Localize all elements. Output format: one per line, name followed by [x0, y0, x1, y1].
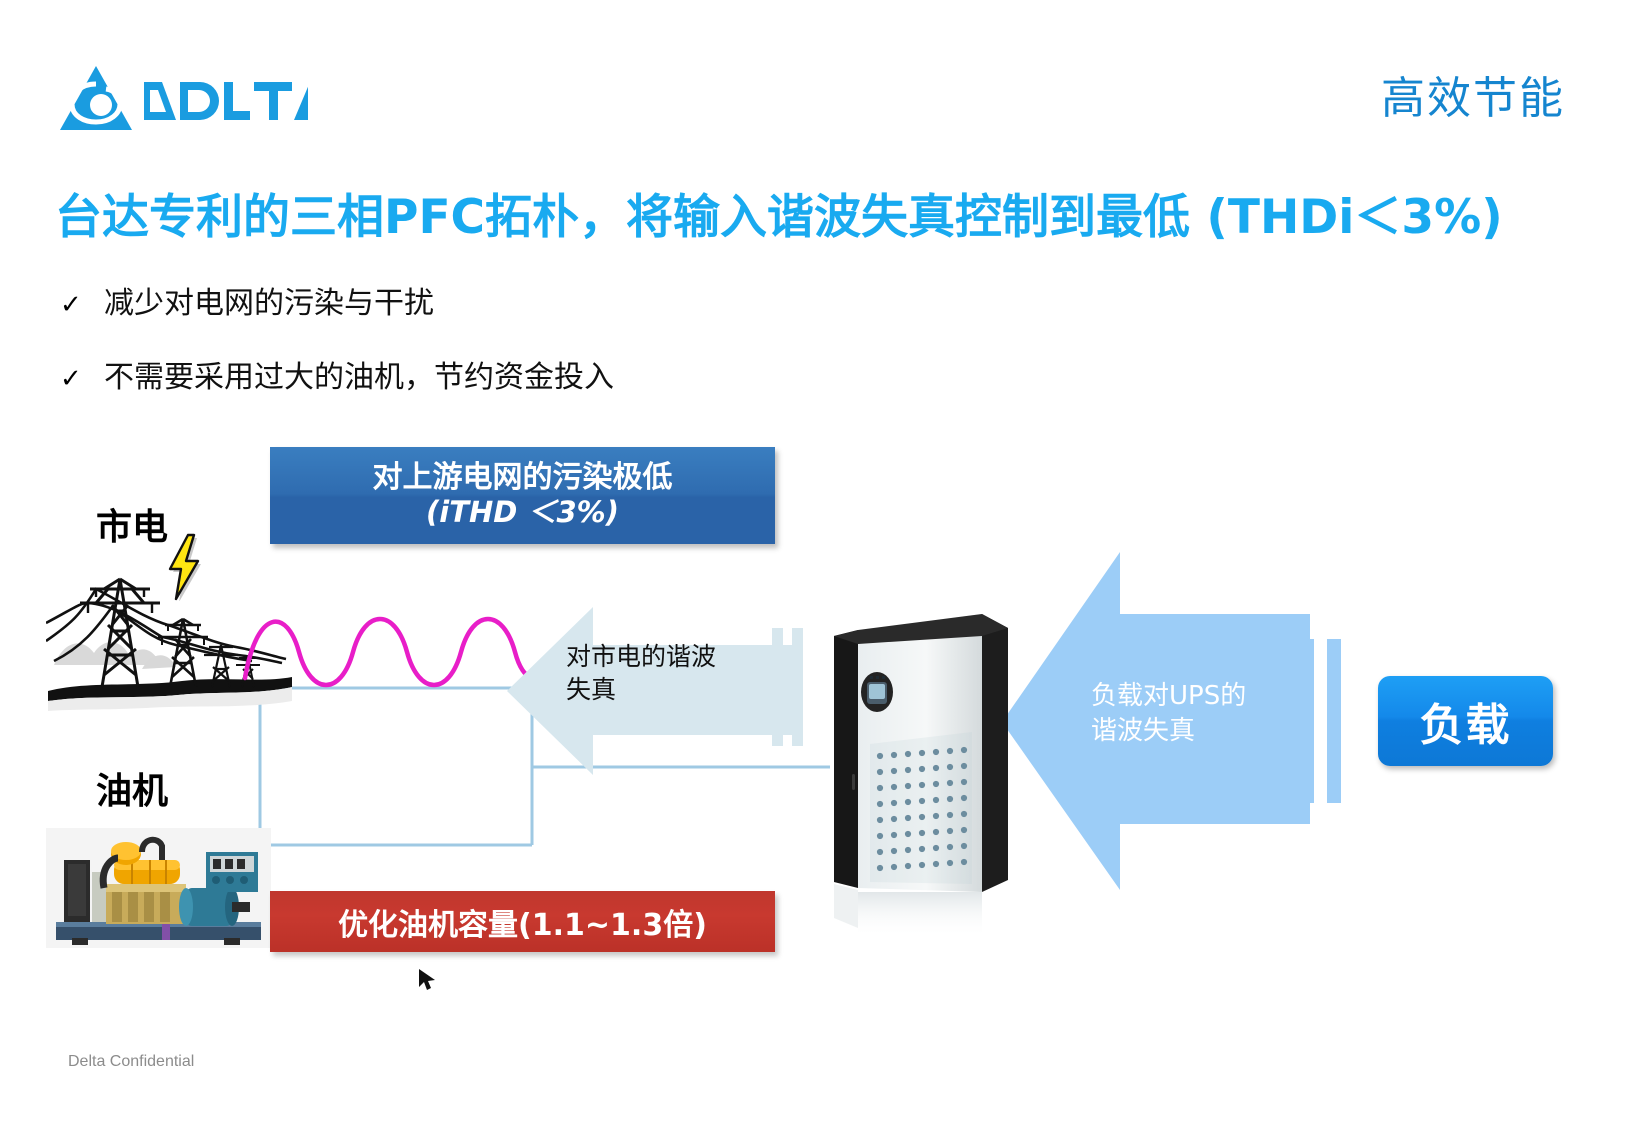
bullet-item: ✓减少对电网的污染与干扰: [60, 278, 434, 322]
bullet-label: 不需要采用过大的油机，节约资金投入: [104, 360, 614, 395]
check-icon: ✓: [60, 290, 104, 320]
red-banner-label: 优化油机容量(1.1~1.3倍): [338, 900, 707, 944]
header-title: 高效节能: [1381, 62, 1565, 126]
page-title: 台达专利的三相PFC拓朴，将输入谐波失真控制到最低 (THDi＜3%): [55, 178, 1503, 247]
arrow-right-label: 负载对UPS的 谐波失真: [1091, 679, 1306, 749]
arrow-left-trail-bars: [772, 628, 808, 746]
arrow-left-label: 对市电的谐波 失真: [566, 640, 766, 706]
bullet-item: ✓不需要采用过大的油机，节约资金投入: [60, 352, 614, 396]
diesel-generator-illustration: [46, 828, 271, 948]
mouse-cursor-icon: [417, 967, 439, 993]
lightning-bolt-icon: [164, 533, 204, 601]
blue-banner-line1: 对上游电网的污染极低: [373, 461, 673, 496]
arrow-right-trail-bars: [1300, 639, 1348, 803]
red-callout-banner: 优化油机容量(1.1~1.3倍): [270, 891, 775, 952]
ups-cabinet-illustration: [822, 592, 1022, 952]
label-mains-power: 市电: [96, 498, 168, 550]
bullet-label: 减少对电网的污染与干扰: [104, 286, 434, 321]
label-diesel-generator: 油机: [96, 762, 168, 814]
blue-banner-line2: (iTHD ＜3%): [426, 495, 619, 530]
delta-logo: [58, 62, 308, 134]
footer-confidential-note: Delta Confidential: [68, 1053, 194, 1071]
load-button-label: 负载: [1420, 689, 1512, 753]
load-button[interactable]: 负载: [1378, 676, 1553, 766]
check-icon: ✓: [60, 364, 104, 394]
blue-callout-banner: 对上游电网的污染极低 (iTHD ＜3%): [270, 447, 775, 544]
